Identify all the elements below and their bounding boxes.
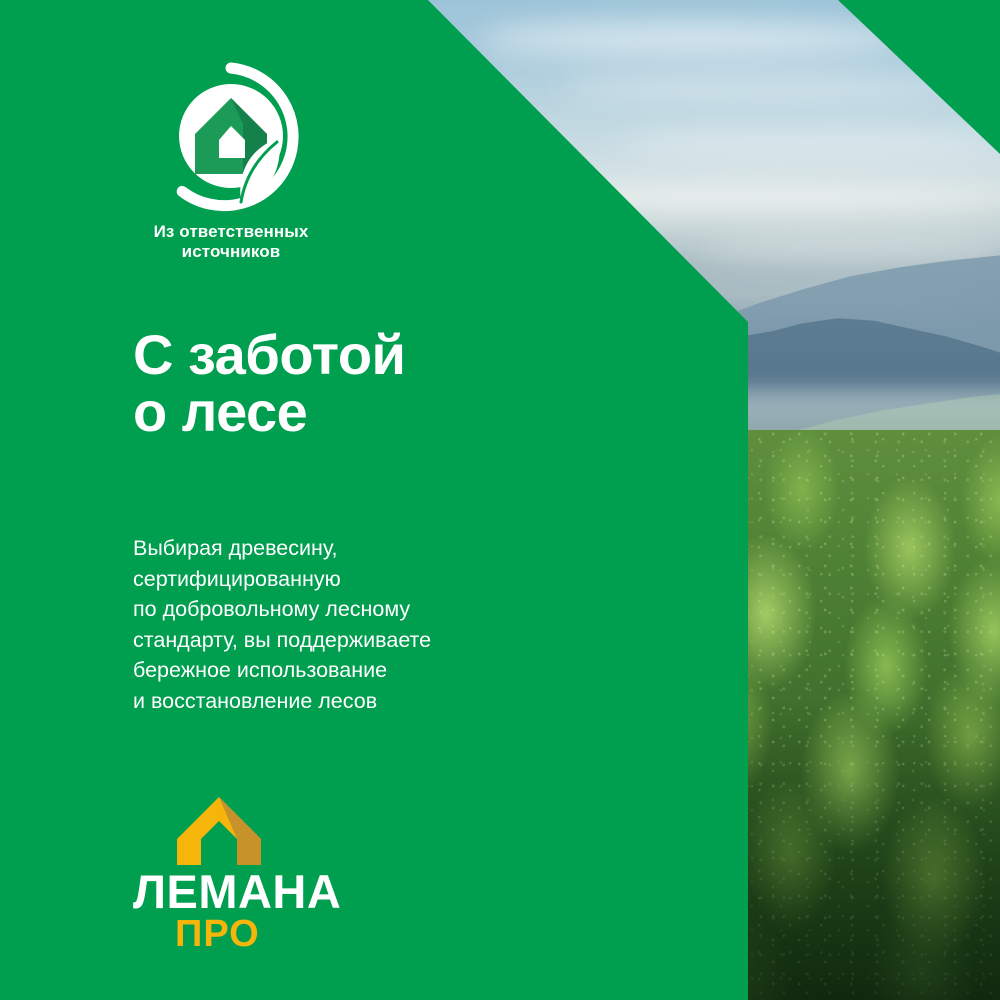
lemana-pro-logo: ЛЕМАНА ПРО: [133, 795, 363, 953]
responsible-sources-seal-icon: [133, 62, 329, 214]
lemana-house-icon: [175, 795, 263, 867]
headline: С заботой о лесе: [133, 326, 405, 440]
badge-caption-line-1: Из ответственных: [133, 222, 329, 242]
brand-name: ЛЕМАНА: [133, 869, 363, 914]
brand-suffix: ПРО: [175, 915, 363, 953]
content-column: Из ответственных источников С заботой о …: [0, 0, 748, 1000]
body-copy: Выбирая древесину, сертифицированную по …: [133, 533, 431, 716]
poster-canvas: Из ответственных источников С заботой о …: [0, 0, 1000, 1000]
badge-caption-line-2: источников: [133, 242, 329, 262]
badge-caption: Из ответственных источников: [133, 222, 329, 262]
responsible-sources-badge: Из ответственных источников: [133, 62, 393, 262]
